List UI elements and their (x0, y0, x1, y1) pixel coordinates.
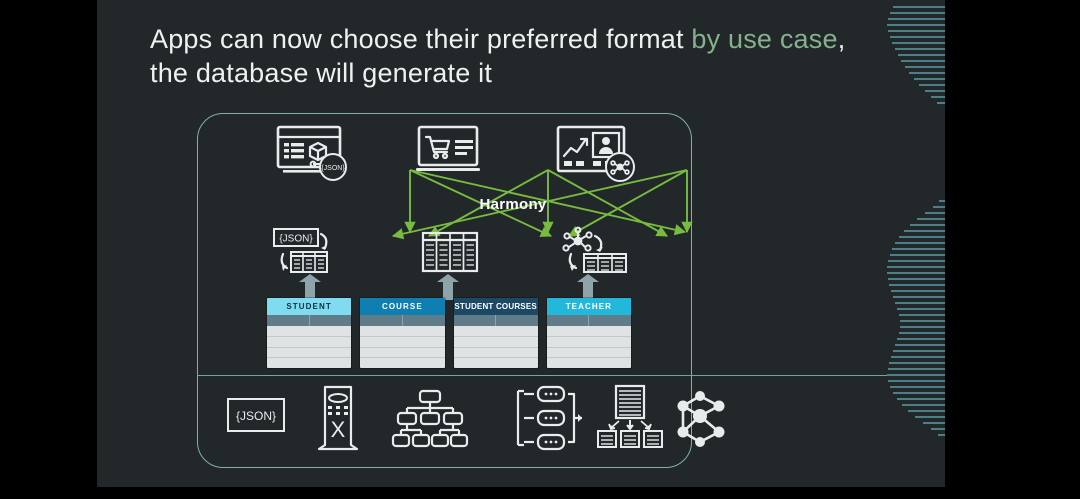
slide-canvas: Apps can now choose their preferred form… (97, 0, 945, 487)
edge-stripe-decoration (885, 0, 945, 487)
table-card-subheader (547, 315, 631, 326)
table-card-subheader (360, 315, 444, 326)
bottom-icon-graph-network[interactable] (667, 390, 733, 448)
table-card-rows (360, 326, 444, 368)
table-card-title: TEACHER (547, 298, 631, 315)
database-table-cards: STUDENT COURSE STUDENT COURSES TEACHER (267, 298, 631, 368)
table-card[interactable]: COURSE (360, 298, 444, 368)
bottom-json-label: {JSON} (236, 409, 276, 423)
format-icon-json[interactable]: {JSON} (273, 228, 337, 274)
table-card[interactable]: STUDENT COURSES (454, 298, 538, 368)
panel-divider (219, 375, 692, 376)
page-title: Apps can now choose their preferred form… (150, 22, 910, 90)
table-card-title: STUDENT (267, 298, 351, 315)
table-card-subheader (267, 315, 351, 326)
title-line-2: the database will generate it (150, 58, 492, 88)
title-text-plain: Apps can now choose their preferred form… (150, 24, 691, 54)
bottom-icon-document-flow[interactable] (512, 385, 584, 451)
format-icon-relational[interactable] (422, 232, 478, 272)
table-card-rows (547, 326, 631, 368)
bottom-xml-label: X (331, 417, 346, 442)
title-text-comma: , (838, 24, 846, 54)
table-card[interactable]: TEACHER (547, 298, 631, 368)
table-grid-small (584, 254, 626, 272)
bottom-icon-hierarchy[interactable] (392, 390, 468, 448)
bottom-icon-document-shard[interactable] (597, 385, 663, 449)
app-icon-ecommerce[interactable] (416, 126, 486, 176)
bottom-icon-json[interactable]: {JSON} (227, 398, 285, 432)
table-card-subheader (454, 315, 538, 326)
table-card[interactable]: STUDENT (267, 298, 351, 368)
supported-format-icons: {JSON} X (222, 382, 687, 454)
table-card-title: STUDENT COURSES (454, 298, 538, 315)
bottom-icon-xml[interactable]: X (317, 385, 359, 451)
json-format-label: {JSON} (279, 234, 313, 245)
table-card-rows (454, 326, 538, 368)
graph-nodes-icon (563, 228, 591, 251)
harmony-label: Harmony (413, 196, 613, 213)
storage-up-arrows (292, 274, 712, 300)
format-icon-graph[interactable] (562, 228, 632, 274)
slide-stage: Apps can now choose their preferred form… (0, 0, 1080, 499)
table-grid-small (291, 252, 327, 272)
table-card-title: COURSE (360, 298, 444, 315)
title-text-accent: by use case (691, 24, 837, 54)
table-card-rows (267, 326, 351, 368)
